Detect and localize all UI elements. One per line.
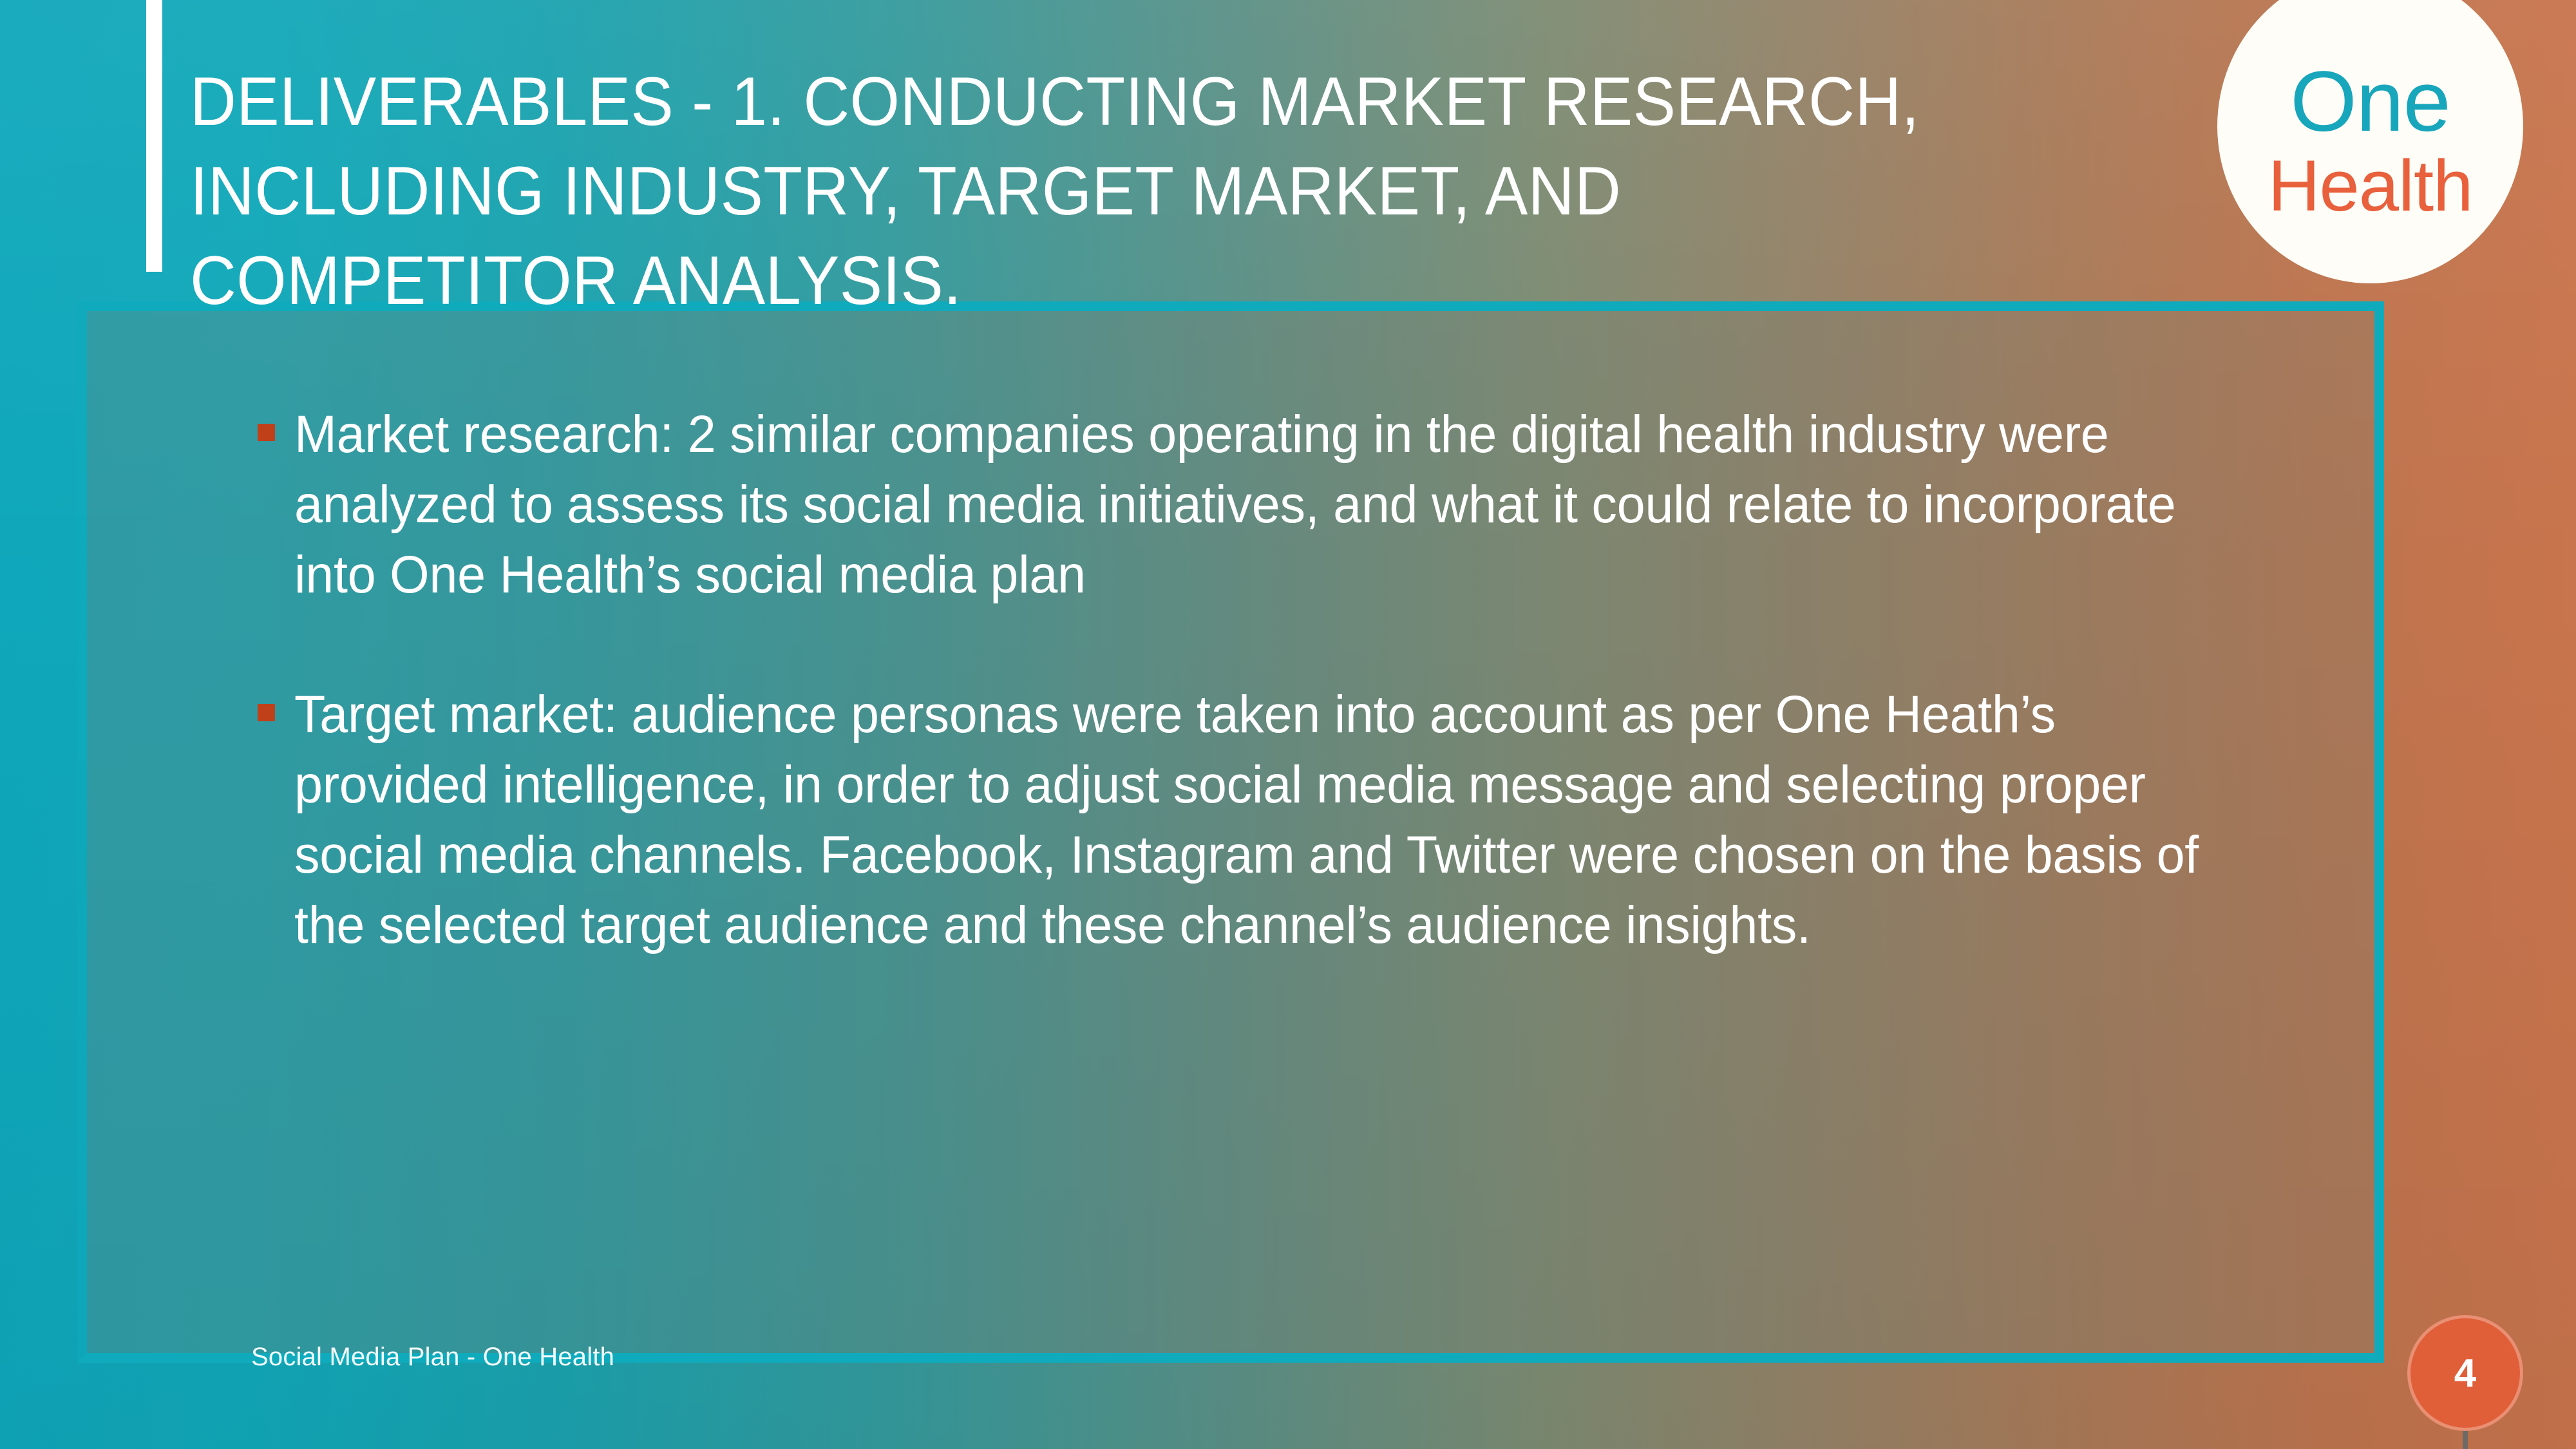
page-number-badge: 4 <box>2407 1315 2523 1431</box>
bullet-item: Market research: 2 similar companies ope… <box>258 399 2306 610</box>
square-bullet-icon <box>258 424 275 441</box>
logo-word-one: One <box>2290 59 2450 145</box>
title-accent-bar <box>146 0 162 272</box>
slide-footer: Social Media Plan - One Health <box>251 1343 614 1372</box>
square-bullet-icon <box>258 704 275 721</box>
bullet-text: Market research: 2 similar companies ope… <box>294 399 2235 610</box>
presentation-slide: DELIVERABLES - 1. CONDUCTING MARKET RESE… <box>0 0 2576 1449</box>
slide-body: Market research: 2 similar companies ope… <box>258 399 2306 1030</box>
bullet-item: Target market: audience personas were ta… <box>258 679 2306 960</box>
logo-word-health: Health <box>2268 150 2473 222</box>
bullet-text: Target market: audience personas were ta… <box>294 679 2202 960</box>
slide-title: DELIVERABLES - 1. CONDUCTING MARKET RESE… <box>190 57 2077 325</box>
